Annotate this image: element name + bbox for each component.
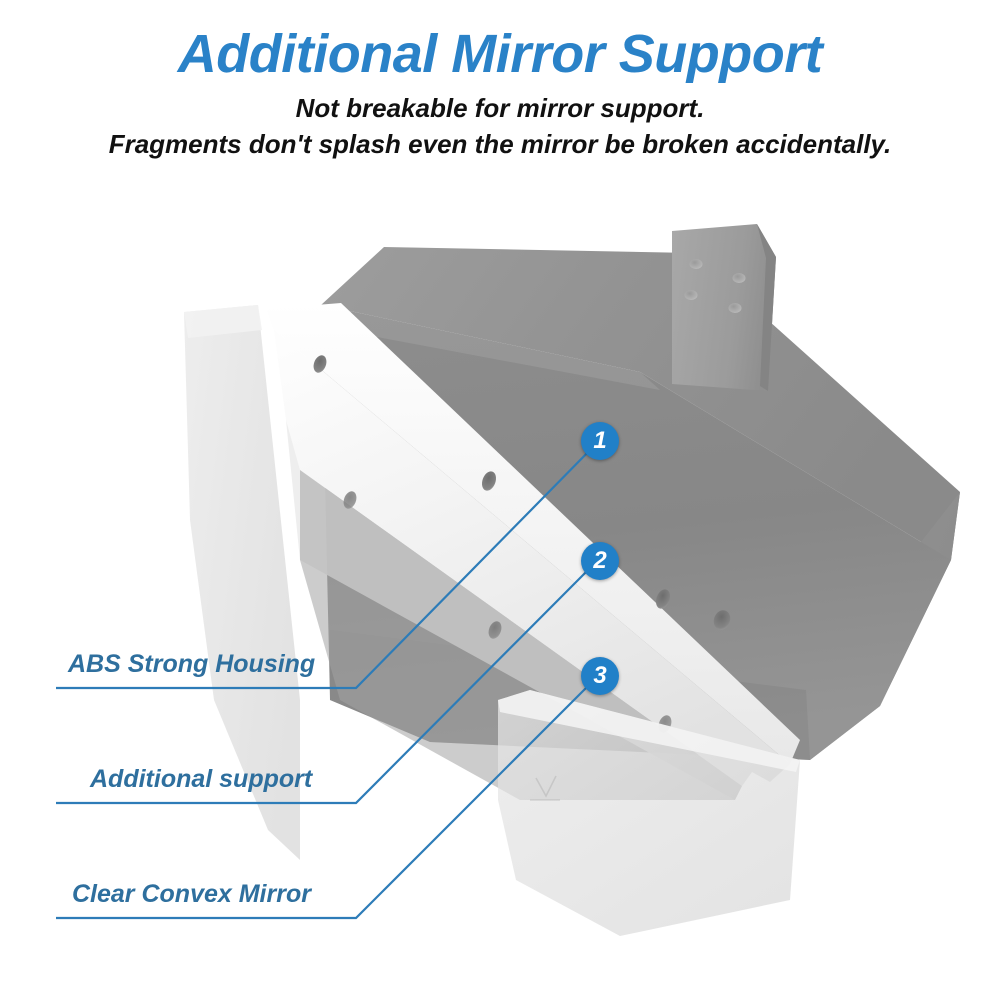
callout-label-abs-strong-housing: ABS Strong Housing	[68, 652, 315, 677]
callout-badge-2: 2	[581, 542, 619, 580]
callout-label-clear-convex-mirror: Clear Convex Mirror	[72, 882, 311, 907]
callout-badge-1: 1	[581, 422, 619, 460]
product-illustration	[0, 0, 1000, 1000]
callout-badge-3: 3	[581, 657, 619, 695]
mounting-bracket-part	[672, 224, 776, 391]
product-infographic-page: Additional Mirror Support Not breakable …	[0, 0, 1000, 1000]
callout-label-additional-support: Additional support	[90, 767, 312, 792]
exploded-view-diagram	[0, 0, 1000, 1000]
